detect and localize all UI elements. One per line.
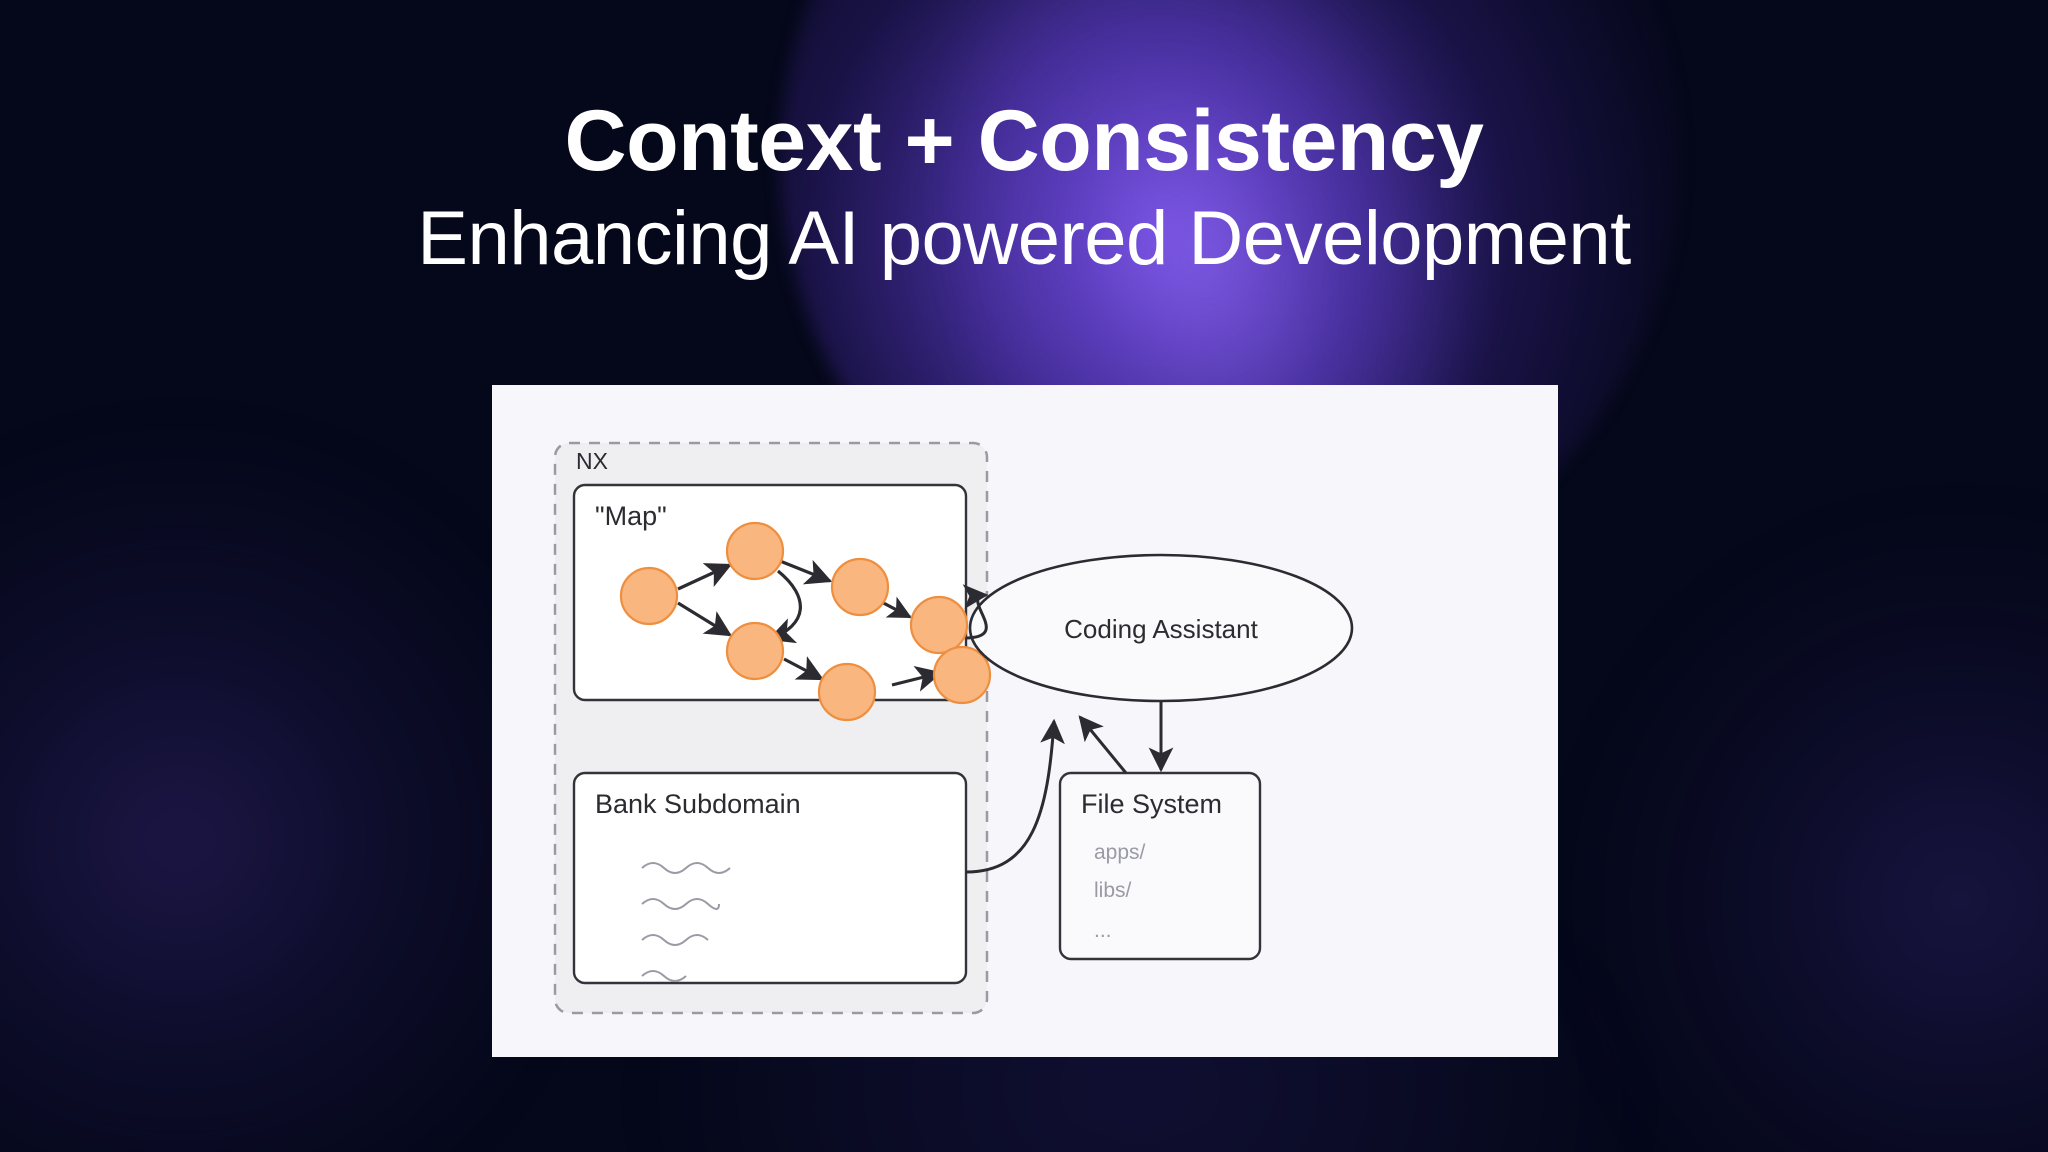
page-title: Context + Consistency <box>0 96 2048 186</box>
graph-node-n5[interactable] <box>911 597 967 653</box>
graph-node-n3[interactable] <box>832 559 888 615</box>
graph-node-n2[interactable] <box>727 523 783 579</box>
file-system-entry-apps: apps/ <box>1094 841 1146 864</box>
file-system-label: File System <box>1081 789 1222 819</box>
graph-node-n7[interactable] <box>934 647 990 703</box>
map-box[interactable]: "Map" <box>574 485 998 720</box>
map-box-label: "Map" <box>595 501 667 531</box>
file-system-entry-ellipsis: ... <box>1094 919 1112 942</box>
diagram-svg: NX "Map" <box>492 385 1558 1057</box>
coding-assistant-node[interactable]: Coding Assistant <box>970 555 1352 701</box>
page-subtitle: Enhancing AI powered Development <box>0 194 2048 284</box>
diagram-panel: NX "Map" <box>492 385 1558 1057</box>
file-system-entry-libs: libs/ <box>1094 879 1132 902</box>
bank-subdomain-box[interactable]: Bank Subdomain <box>574 773 966 983</box>
heading-block: Context + Consistency Enhancing AI power… <box>0 96 2048 284</box>
bank-subdomain-label: Bank Subdomain <box>595 789 801 819</box>
graph-node-n1[interactable] <box>621 568 677 624</box>
connector-filesystem-to-assistant <box>1080 717 1126 773</box>
background-glow-right <box>1580 520 2048 1152</box>
slide-canvas: Context + Consistency Enhancing AI power… <box>0 0 2048 1152</box>
nx-container-label: NX <box>576 448 608 474</box>
graph-node-n6[interactable] <box>819 664 875 720</box>
file-system-box[interactable]: File System apps/ libs/ ... <box>1060 773 1260 959</box>
coding-assistant-label: Coding Assistant <box>1064 614 1258 644</box>
graph-node-n4[interactable] <box>727 623 783 679</box>
